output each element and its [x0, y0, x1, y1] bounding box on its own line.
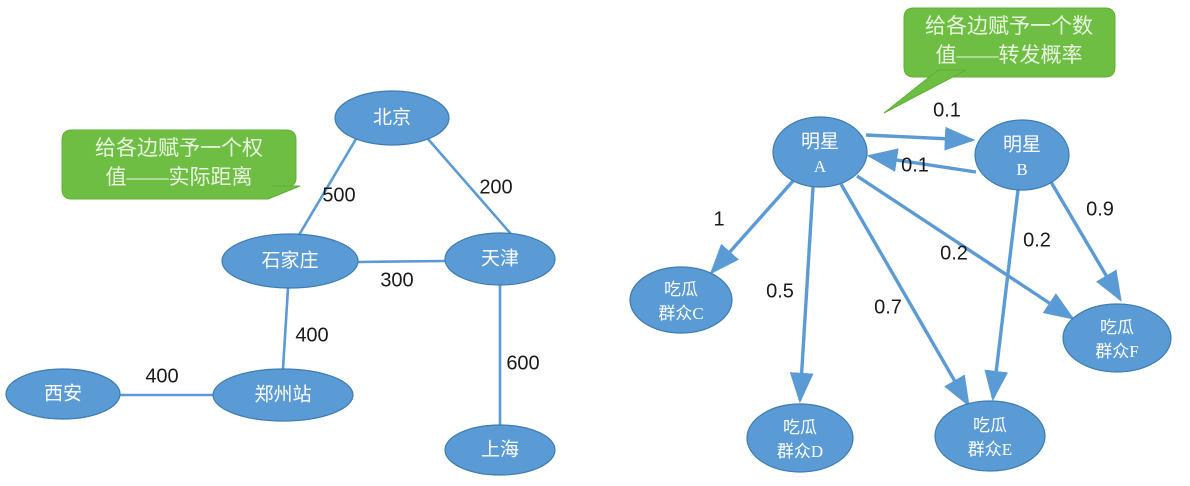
node-crowdD[interactable]: 吃瓜 群众D: [747, 404, 853, 472]
graph-svg: 北京 石家庄 天津 郑州站 西安 上海: [0, 0, 1190, 486]
edge-label-xian-zhengzhou: 400: [145, 365, 178, 387]
right-callout-line2: 值——转发概率: [936, 43, 1083, 67]
node-beijing-label: 北京: [373, 106, 411, 128]
node-xian[interactable]: 西安: [6, 369, 120, 419]
diagram-canvas: 北京 石家庄 天津 郑州站 西安 上海: [0, 0, 1190, 486]
node-crowdE[interactable]: 吃瓜 群众E: [935, 401, 1045, 471]
edge-starA-crowdE: [841, 184, 968, 404]
node-starA-label-line2: A: [814, 157, 827, 176]
node-crowdC[interactable]: 吃瓜 群众C: [630, 267, 732, 333]
edge-label-tianjin-shanghai: 600: [506, 352, 539, 374]
node-crowdE-shape[interactable]: [935, 401, 1045, 471]
node-crowdF-label-line1: 吃瓜: [1100, 318, 1134, 337]
node-zhengzhou[interactable]: 郑州站: [213, 369, 353, 421]
node-shanghai-label: 上海: [481, 438, 519, 460]
edge-label-starA-crowdC: 1: [713, 208, 724, 230]
node-crowdD-label-line2: 群众D: [777, 442, 823, 461]
left-callout: 给各边赋予一个权 值——实际距离: [62, 130, 300, 199]
node-crowdC-label-line2: 群众C: [658, 304, 703, 323]
node-shijiazhuang-label: 石家庄: [261, 249, 318, 271]
node-crowdF[interactable]: 吃瓜 群众F: [1063, 304, 1171, 372]
edge-starA-starB: [866, 135, 972, 140]
node-crowdC-shape[interactable]: [630, 267, 732, 333]
node-crowdE-label-line2: 群众E: [968, 440, 1012, 459]
node-crowdC-label-line1: 吃瓜: [664, 280, 698, 299]
node-starB[interactable]: 明星 B: [975, 120, 1069, 190]
edge-label-starB-starA: 0.1: [901, 154, 929, 176]
edge-label-starB-crowdE: 0.2: [1023, 229, 1051, 251]
edge-label-starA-starB: 0.1: [933, 99, 961, 121]
node-crowdD-label-line1: 吃瓜: [783, 418, 817, 437]
node-starA-label-line1: 明星: [801, 131, 839, 152]
node-shanghai[interactable]: 上海: [445, 425, 555, 475]
node-xian-label: 西安: [44, 382, 82, 404]
edge-label-starB-crowdF: 0.9: [1086, 198, 1114, 220]
node-starB-label-line1: 明星: [1003, 134, 1041, 155]
node-crowdF-shape[interactable]: [1063, 304, 1171, 372]
edge-label-shijiazhuang-zhengzhou: 400: [295, 324, 328, 346]
node-crowdF-label-line2: 群众F: [1095, 342, 1138, 361]
node-crowdD-shape[interactable]: [747, 404, 853, 472]
right-callout-line1: 给各边赋予一个数: [925, 14, 1093, 38]
edge-label-starA-crowdD: 0.5: [766, 280, 794, 302]
node-starA[interactable]: 明星 A: [773, 117, 867, 187]
node-starB-label-line2: B: [1016, 160, 1027, 179]
edge-starA-crowdD: [800, 187, 813, 400]
edge-label-beijing-shijiazhuang: 500: [322, 184, 355, 206]
node-shijiazhuang[interactable]: 石家庄: [222, 234, 358, 288]
edge-label-beijing-tianjin: 200: [479, 176, 512, 198]
node-beijing[interactable]: 北京: [335, 91, 449, 145]
left-callout-line2: 值——实际距离: [106, 165, 253, 189]
edge-shijiazhuang-zhengzhou: [283, 288, 288, 369]
right-callout: 给各边赋予一个数 值——转发概率: [884, 8, 1115, 113]
edge-starB-crowdE: [993, 190, 1018, 398]
left-callout-line1: 给各边赋予一个权: [95, 136, 263, 160]
node-zhengzhou-label: 郑州站: [254, 383, 311, 405]
node-tianjin[interactable]: 天津: [445, 233, 555, 285]
edge-label-starA-crowdF: 0.2: [940, 242, 968, 264]
node-tianjin-label: 天津: [481, 247, 519, 269]
edge-shijiazhuang-tianjin: [358, 261, 445, 262]
edge-label-shijiazhuang-tianjin: 300: [380, 269, 413, 291]
edge-label-starA-crowdE: 0.7: [874, 296, 902, 318]
node-crowdE-label-line1: 吃瓜: [973, 416, 1007, 435]
